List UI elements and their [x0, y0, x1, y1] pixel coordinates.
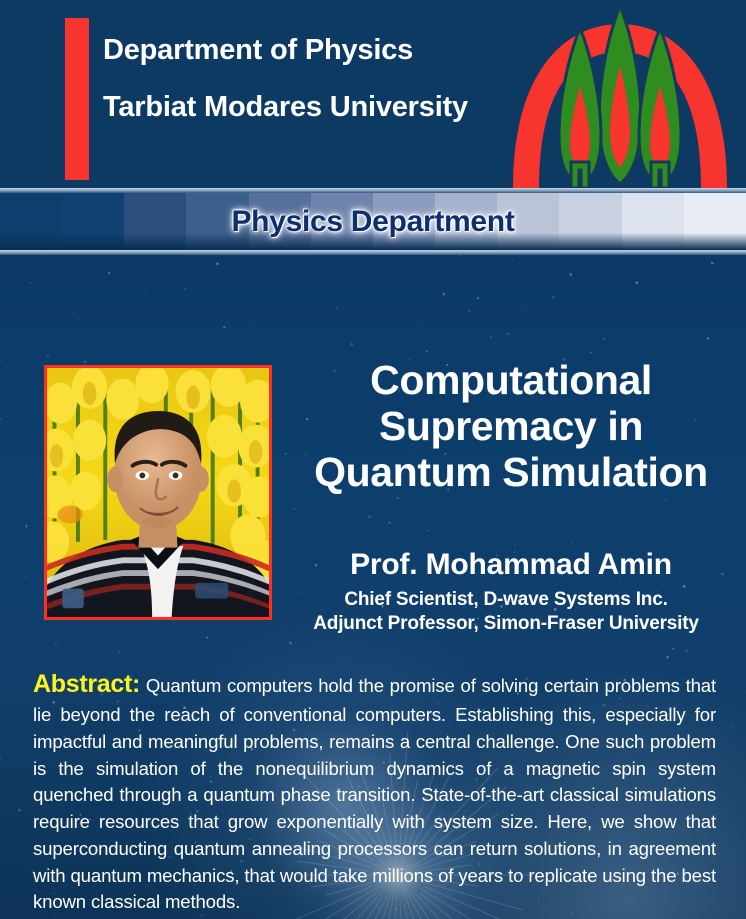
banner-title: Physics Department	[0, 193, 746, 250]
talk-title-line-2: Supremacy in	[286, 404, 736, 450]
speaker-affiliation: Chief Scientist, D-wave Systems Inc. Adj…	[266, 588, 746, 636]
seminar-poster: Department of Physics Tarbiat Modares Un…	[0, 0, 746, 919]
university-logo	[505, 2, 735, 188]
talk-title-line-1: Computational	[286, 358, 736, 404]
poster-header: Department of Physics Tarbiat Modares Un…	[0, 0, 746, 190]
affiliation-line-1: Chief Scientist, D-wave Systems Inc.	[266, 588, 746, 612]
speaker-name: Prof. Mohammad Amin	[286, 548, 736, 582]
university-name: Tarbiat Modares University	[103, 93, 523, 122]
talk-title-line-3: Quantum Simulation	[286, 450, 736, 496]
abstract-label: Abstract:	[33, 670, 140, 698]
affiliation-line-2: Adjunct Professor, Simon-Fraser Universi…	[266, 612, 746, 636]
header-accent-bar	[65, 18, 89, 180]
abstract-body: Quantum computers hold the promise of so…	[33, 675, 716, 912]
abstract-section: Abstract: Quantum computers hold the pro…	[33, 666, 716, 916]
department-name: Department of Physics	[103, 36, 523, 65]
talk-title: Computational Supremacy in Quantum Simul…	[286, 358, 736, 496]
speaker-portrait	[44, 365, 272, 620]
university-identity: Department of Physics Tarbiat Modares Un…	[103, 36, 523, 122]
